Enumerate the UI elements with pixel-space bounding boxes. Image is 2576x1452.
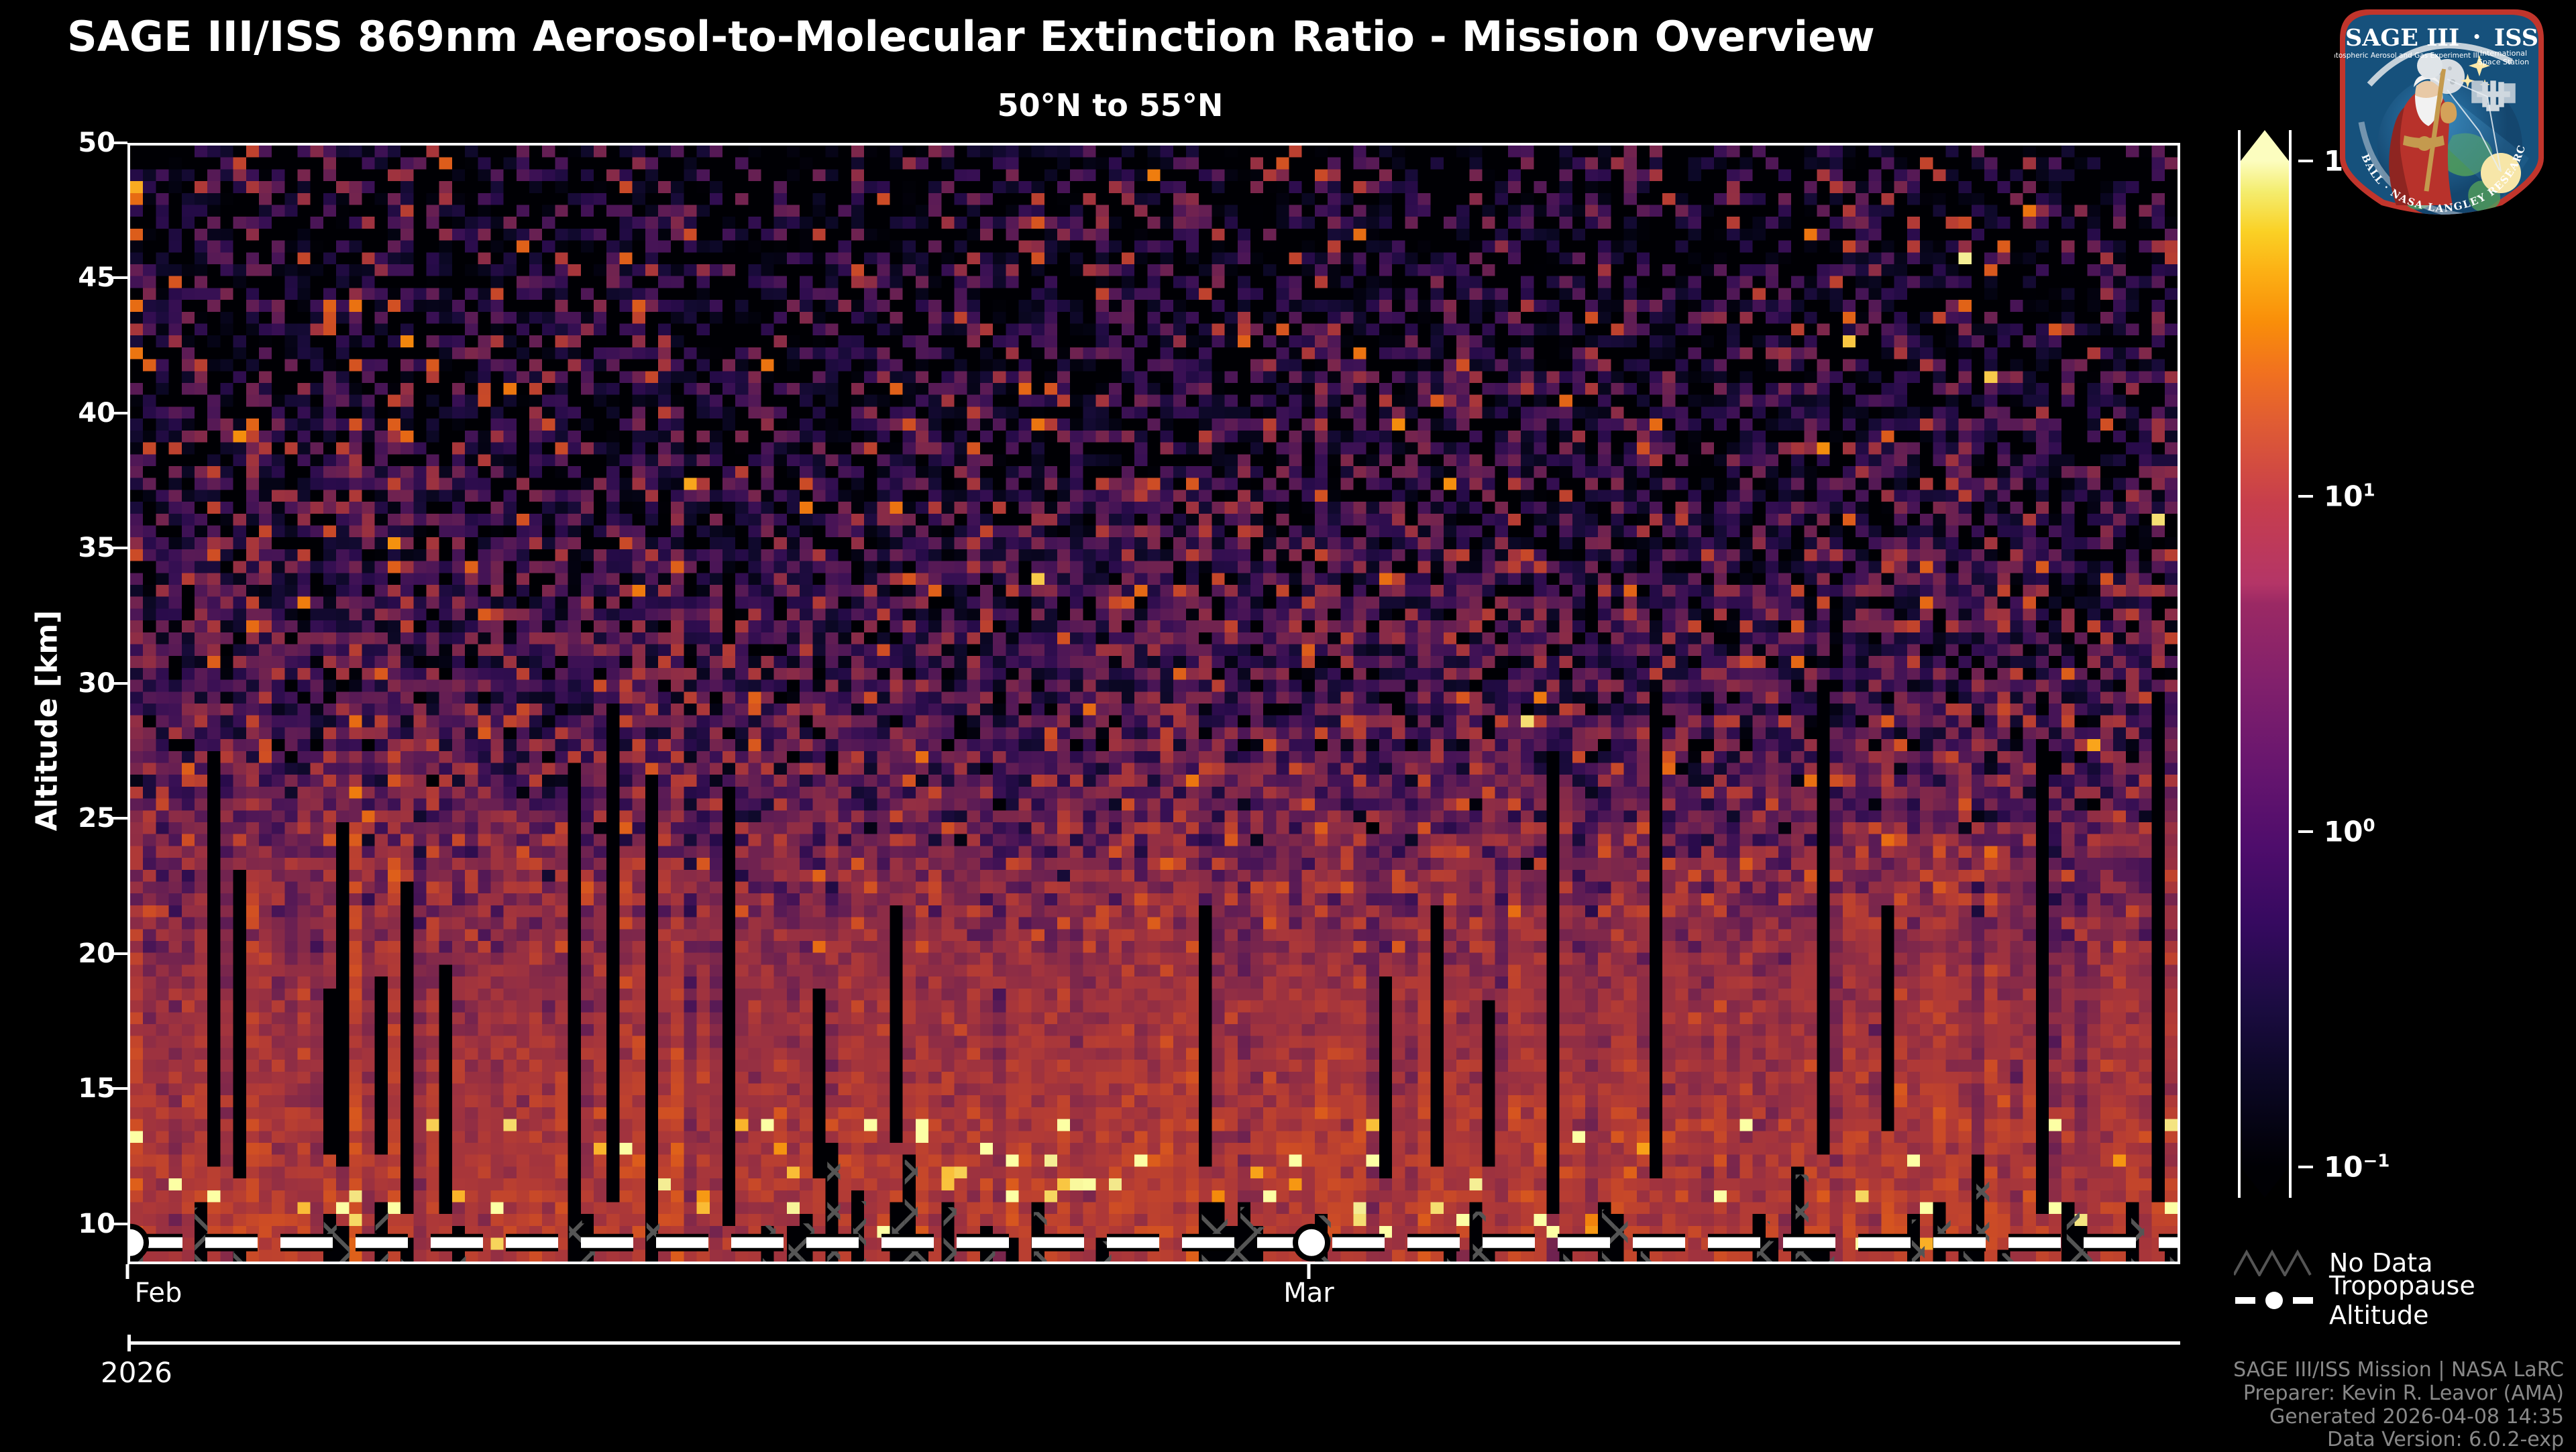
no-data-hatch-icon: [2234, 1249, 2314, 1276]
y-axis-label: Altitude [km]: [30, 520, 64, 922]
no-data-hatch-cell: [1770, 1241, 1782, 1264]
colorbar-tick-label: 101: [2324, 480, 2375, 512]
no-data-hatch-cell: [1008, 1245, 1021, 1264]
no-data-hatch-cell: [2002, 1253, 2015, 1264]
patch-subtitle-left: Stratospheric Aerosol and Gas Experiment…: [2334, 52, 2479, 60]
y-tick-mark: [113, 952, 127, 955]
y-tick-mark: [113, 1087, 127, 1090]
y-tick-label: 20: [35, 938, 115, 969]
y-tick-mark: [113, 817, 127, 820]
no-data-hatch-cell: [1615, 1219, 1627, 1264]
credit-generated: Generated 2026-04-08 14:35: [2233, 1406, 2564, 1429]
tropopause-marker: [130, 1227, 146, 1259]
no-data-hatch-cell: [853, 1201, 866, 1264]
colorbar[interactable]: [2241, 161, 2289, 1167]
x-tick-mark: [1307, 1264, 1311, 1279]
y-tick-label: 45: [35, 262, 115, 293]
heatmap-plot-area[interactable]: [127, 143, 2180, 1264]
x-tick-mark: [126, 1264, 129, 1279]
heatmap-overlay: [130, 146, 2180, 1264]
no-data-hatch-cell: [789, 1229, 802, 1264]
patch-sage: SAGE III: [2345, 24, 2459, 52]
colorbar-gradient: [2241, 161, 2289, 1167]
patch-subtitle-right-2: Space Station: [2478, 58, 2529, 66]
no-data-hatch-cell: [943, 1207, 956, 1264]
y-tick-label: 15: [35, 1073, 115, 1104]
colorbar-tick-mark: [2298, 830, 2313, 833]
no-data-hatch-cell: [1240, 1207, 1253, 1264]
year-label: 2026: [101, 1356, 172, 1389]
colorbar-tick-label: 10−1: [2324, 1151, 2390, 1184]
y-tick-label: 10: [35, 1209, 115, 1239]
tropopause-line-icon: [2234, 1287, 2314, 1314]
y-tick-mark: [113, 276, 127, 279]
year-rule-cap: [127, 1335, 131, 1351]
subtitle: 50°N to 55°N: [0, 87, 2220, 123]
no-data-hatch-cell: [1912, 1219, 1925, 1264]
colorbar-tick-mark: [2298, 1166, 2313, 1168]
tropopause-marker: [1295, 1227, 1328, 1259]
y-tick-label: 40: [35, 398, 115, 429]
credit-mission: SAGE III/ISS Mission | NASA LaRC: [2233, 1359, 2564, 1382]
colorbar-outline: [2238, 130, 2241, 1198]
colorbar-over-arrow: [2241, 130, 2289, 161]
credits-block: SAGE III/ISS Mission | NASA LaRC Prepare…: [2233, 1359, 2564, 1452]
y-tick-mark: [113, 682, 127, 685]
y-tick-mark: [113, 142, 127, 144]
colorbar-outline: [2289, 130, 2292, 1198]
legend: No Data Tropopause Altitude: [2234, 1244, 2576, 1319]
colorbar-under-arrow: [2241, 1167, 2289, 1198]
x-tick-label: Feb: [135, 1278, 182, 1308]
colorbar-tick-mark: [2298, 160, 2313, 162]
colorbar-tick-label: 100: [2324, 816, 2375, 848]
patch-subtitle-right-1: International: [2480, 49, 2527, 58]
credit-preparer: Preparer: Kevin R. Leavor (AMA): [2233, 1382, 2564, 1406]
heatmap-cells: [130, 146, 2178, 1262]
y-tick-label: 50: [35, 127, 115, 158]
y-tick-mark: [113, 1223, 127, 1225]
no-data-hatch-cell: [2067, 1212, 2080, 1264]
x-tick-label: Mar: [1283, 1278, 1334, 1308]
year-rule: [127, 1341, 2180, 1345]
sage-iii-iss-mission-patch: BALL · NASA LANGLEY RESEARCH CENTER · TA…: [2334, 4, 2549, 219]
legend-label-tropopause: Tropopause Altitude: [2329, 1271, 2576, 1330]
y-tick-mark: [113, 547, 127, 549]
no-data-hatch-cell: [569, 1210, 582, 1264]
legend-item-tropopause: Tropopause Altitude: [2234, 1282, 2576, 1319]
colorbar-tick-mark: [2298, 495, 2313, 498]
no-data-hatch-cell: [337, 1233, 350, 1264]
y-tick-mark: [113, 412, 127, 414]
page-title: SAGE III/ISS 869nm Aerosol-to-Molecular …: [67, 12, 1875, 61]
patch-title: SAGE III · ISS: [2345, 21, 2538, 52]
